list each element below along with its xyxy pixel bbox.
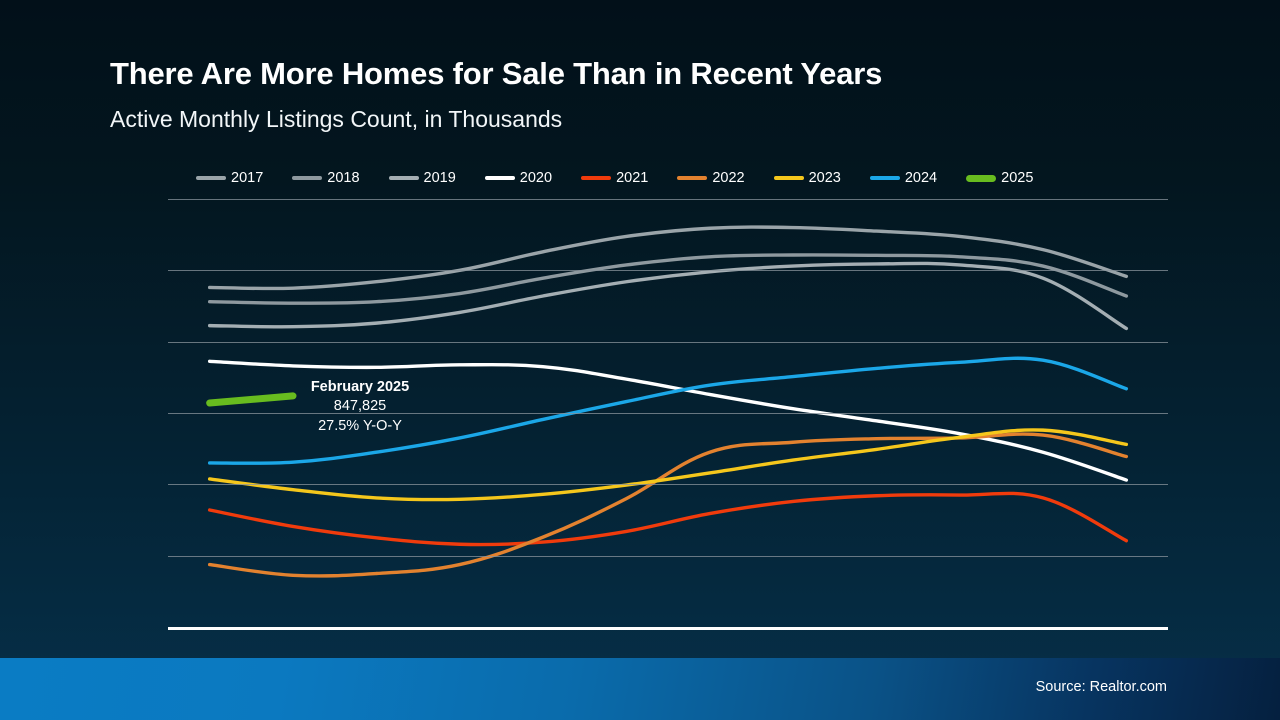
legend-item-2024[interactable]: 2024 — [870, 170, 937, 186]
legend-label-2020: 2020 — [520, 170, 552, 186]
x-axis-line — [168, 627, 1168, 630]
legend-item-2019[interactable]: 2019 — [389, 170, 456, 186]
legend-swatch-2020 — [485, 176, 515, 180]
legend-item-2020[interactable]: 2020 — [485, 170, 552, 186]
gridline-1,400 — [168, 199, 1168, 200]
series-line-2024 — [210, 358, 1127, 463]
legend-label-2025: 2025 — [1001, 170, 1033, 186]
gridline-1,000 — [168, 342, 1168, 343]
legend-item-2023[interactable]: 2023 — [774, 170, 841, 186]
series-line-2018 — [210, 255, 1127, 303]
chart-plot-area: 2004006008001,0001,2001,400JanFebMarAprM… — [168, 199, 1168, 627]
legend-item-2017[interactable]: 2017 — [196, 170, 263, 186]
gridline-600 — [168, 484, 1168, 485]
legend-label-2021: 2021 — [616, 170, 648, 186]
legend-swatch-2025 — [966, 175, 996, 182]
gridline-400 — [168, 556, 1168, 557]
series-line-2021 — [210, 493, 1127, 544]
legend-swatch-2024 — [870, 176, 900, 180]
legend-swatch-2019 — [389, 176, 419, 180]
series-line-2020 — [210, 361, 1127, 480]
legend-swatch-2023 — [774, 176, 804, 180]
footer-banner: Source: Realtor.com — [0, 658, 1280, 720]
legend-item-2025[interactable]: 2025 — [966, 170, 1033, 186]
gridline-1,200 — [168, 270, 1168, 271]
legend-label-2018: 2018 — [327, 170, 359, 186]
legend-item-2022[interactable]: 2022 — [677, 170, 744, 186]
legend-label-2019: 2019 — [424, 170, 456, 186]
legend-item-2021[interactable]: 2021 — [581, 170, 648, 186]
page-title: There Are More Homes for Sale Than in Re… — [110, 56, 882, 92]
legend-label-2023: 2023 — [809, 170, 841, 186]
legend-label-2024: 2024 — [905, 170, 937, 186]
legend-swatch-2018 — [292, 176, 322, 180]
chart-legend: 201720182019202020212022202320242025 — [196, 167, 1146, 189]
legend-label-2022: 2022 — [712, 170, 744, 186]
gridline-800 — [168, 413, 1168, 414]
series-line-2025 — [210, 396, 293, 403]
series-line-2019 — [210, 263, 1127, 328]
legend-swatch-2022 — [677, 176, 707, 180]
page-subtitle: Active Monthly Listings Count, in Thousa… — [110, 106, 562, 133]
legend-swatch-2017 — [196, 176, 226, 180]
slide-root: There Are More Homes for Sale Than in Re… — [0, 0, 1280, 720]
legend-label-2017: 2017 — [231, 170, 263, 186]
legend-swatch-2021 — [581, 176, 611, 180]
source-text: Source: Realtor.com — [1036, 679, 1167, 695]
legend-item-2018[interactable]: 2018 — [292, 170, 359, 186]
